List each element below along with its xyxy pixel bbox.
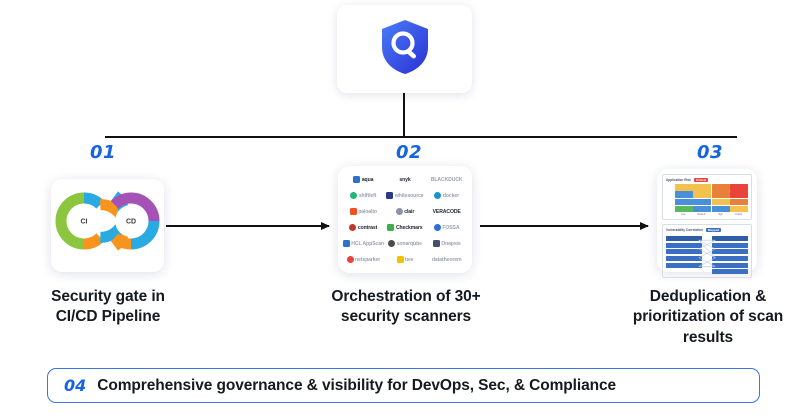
scanner-logo-mark [349,224,356,231]
scanner-logo: aqua [343,173,384,186]
scanner-logo-mark [347,256,354,263]
card-scan-results-dashboard: Application Risk Critical LowMediumHighC… [657,169,757,272]
caption-line: Deduplication & [612,287,804,307]
scanner-logo-name: netsparker [355,257,380,263]
scanner-logo: Checkmarx [385,221,426,234]
scanner-logo: shiftleft [343,189,384,202]
risk-matrix-cell [693,184,711,191]
scanner-logo: contrast [343,221,384,234]
risk-dashboard: Application Risk Critical LowMediumHighC… [657,169,757,272]
scanner-logo-name: bee [405,257,413,263]
scanner-logo: docker [426,189,467,202]
scanner-logo-mark [396,208,403,215]
scanner-logo: HCL AppScan [343,237,384,250]
risk-matrix-x-label: Low [681,213,685,216]
scanner-logo: Onapsis [426,237,467,250]
scanner-logo: whitesource [385,189,426,202]
scanner-logo: sonarqube [385,237,426,250]
scanner-logo-grid: aquasnykBLACKDUCKshiftleftwhitesourcedoc… [338,166,472,273]
risk-matrix-cell [730,199,748,206]
governance-banner: 04 Comprehensive governance & visibility… [47,368,760,403]
scanner-logo-mark [388,240,395,247]
risk-matrix-cell [730,184,748,191]
scanner-logo-mark [434,192,441,199]
scanner-logo-name: contrast [358,225,377,231]
scanner-logo-mark [343,240,350,247]
scanner-logo: FOSSA [426,221,467,234]
scanner-logo-name: BLACKDUCK [431,177,463,183]
risk-matrix-cell [712,191,730,198]
risk-matrix-badge: Critical [694,178,708,182]
scanner-logo-name: snyk [399,177,410,183]
scanner-logo-name: FOSSA [442,225,459,231]
risk-matrix-x-label: High [718,213,723,216]
svg-text:CD: CD [126,219,136,226]
timeline-rule [105,136,737,138]
diagram-canvas: 01 02 03 [0,0,807,420]
scanner-logo: VERACODE [426,205,467,218]
scanner-logo-mark [387,224,394,231]
scanner-logo-mark [353,176,360,183]
correlation-badge: Mapped [706,228,721,232]
scanner-logo-name: sonarqube [397,241,422,247]
risk-matrix-grid [675,184,748,212]
card-cicd-pipeline: CI CD [51,179,164,272]
scanner-logo: BLACKDUCK [426,173,467,186]
risk-matrix-panel: Application Risk Critical LowMediumHighC… [662,174,752,220]
scanner-logo: datatheorem [426,253,467,266]
caption-step-02: Orchestration of 30+security scanners [300,287,512,328]
scanner-logo: snyk [385,173,426,186]
scanner-logo-mark [350,192,357,199]
risk-matrix-cell [675,199,693,206]
scanner-logo: paloalto [343,205,384,218]
risk-matrix-cell [675,191,693,198]
scanner-logo: netsparker [343,253,384,266]
cicd-infinity-icon: CI CD [51,179,164,272]
risk-matrix-cell [675,206,693,213]
card-security-scanners: aquasnykBLACKDUCKshiftleftwhitesourcedoc… [338,166,472,273]
correlation-panel: Vulnerability Correlation Mapped [662,224,752,278]
caption-step-03: Deduplication &prioritization of scanres… [612,287,804,348]
risk-matrix-title-row: Application Risk Critical [666,178,748,182]
scanner-logo: clair [385,205,426,218]
governance-banner-text: Comprehensive governance & visibility fo… [97,377,616,395]
scanner-logo-name: HCL AppScan [351,241,383,247]
step-number-02: 02 [396,142,422,163]
caption-line: Orchestration of 30+ [300,287,512,307]
scanner-logo-name: aqua [362,177,374,183]
shield-search-icon [379,18,431,81]
caption-line: prioritization of scan [612,307,804,327]
scanner-logo-name: clair [404,209,414,215]
caption-line: CI/CD Pipeline [16,307,200,327]
correlation-title-row: Vulnerability Correlation Mapped [666,228,748,232]
risk-matrix-cell [730,191,748,198]
caption-line: results [612,328,804,348]
risk-matrix-cell [693,191,711,198]
arrow-step2-to-step3 [480,225,648,227]
scanner-logo-name: shiftleft [359,193,377,199]
scanner-logo-mark [397,256,404,263]
scanner-logo: bee [385,253,426,266]
step-number-01: 01 [90,142,116,163]
caption-line: Security gate in [16,287,200,307]
svg-text:CI: CI [81,219,88,226]
correlation-map [666,234,748,274]
scanner-logo-name: datatheorem [432,257,461,263]
scanner-logo-name: Onapsis [441,241,460,247]
scanner-logo-name: Checkmarx [396,225,423,231]
arrow-step1-to-step2 [166,225,329,227]
scanner-logo-name: paloalto [358,209,377,215]
risk-matrix-cell [712,206,730,213]
scanner-logo-mark [386,192,393,199]
risk-matrix-cell [730,206,748,213]
scanner-logo-name: docker [443,193,459,199]
correlation-title: Vulnerability Correlation [666,228,703,232]
scanner-logo-name: whitesource [395,193,424,199]
scanner-logo-mark [433,240,440,247]
scanner-logo-name: VERACODE [433,209,461,215]
scanner-logo-mark [350,208,357,215]
risk-matrix-cell [675,184,693,191]
caption-step-01: Security gate inCI/CD Pipeline [16,287,200,328]
risk-matrix-cell [693,206,711,213]
risk-matrix-x-label: Critical [735,213,742,216]
risk-matrix-x-label: Medium [697,213,706,216]
risk-matrix-cell [693,199,711,206]
risk-matrix-x-labels: LowMediumHighCritical [675,213,748,216]
risk-matrix-cell [712,199,730,206]
risk-matrix-title: Application Risk [666,178,691,182]
caption-line: security scanners [300,307,512,327]
step-number-04: 04 [64,376,86,395]
step-number-03: 03 [697,142,723,163]
brand-logo-card [337,5,472,93]
risk-matrix-cell [712,184,730,191]
scanner-logo-mark [434,224,441,231]
connector-stem [403,93,405,137]
